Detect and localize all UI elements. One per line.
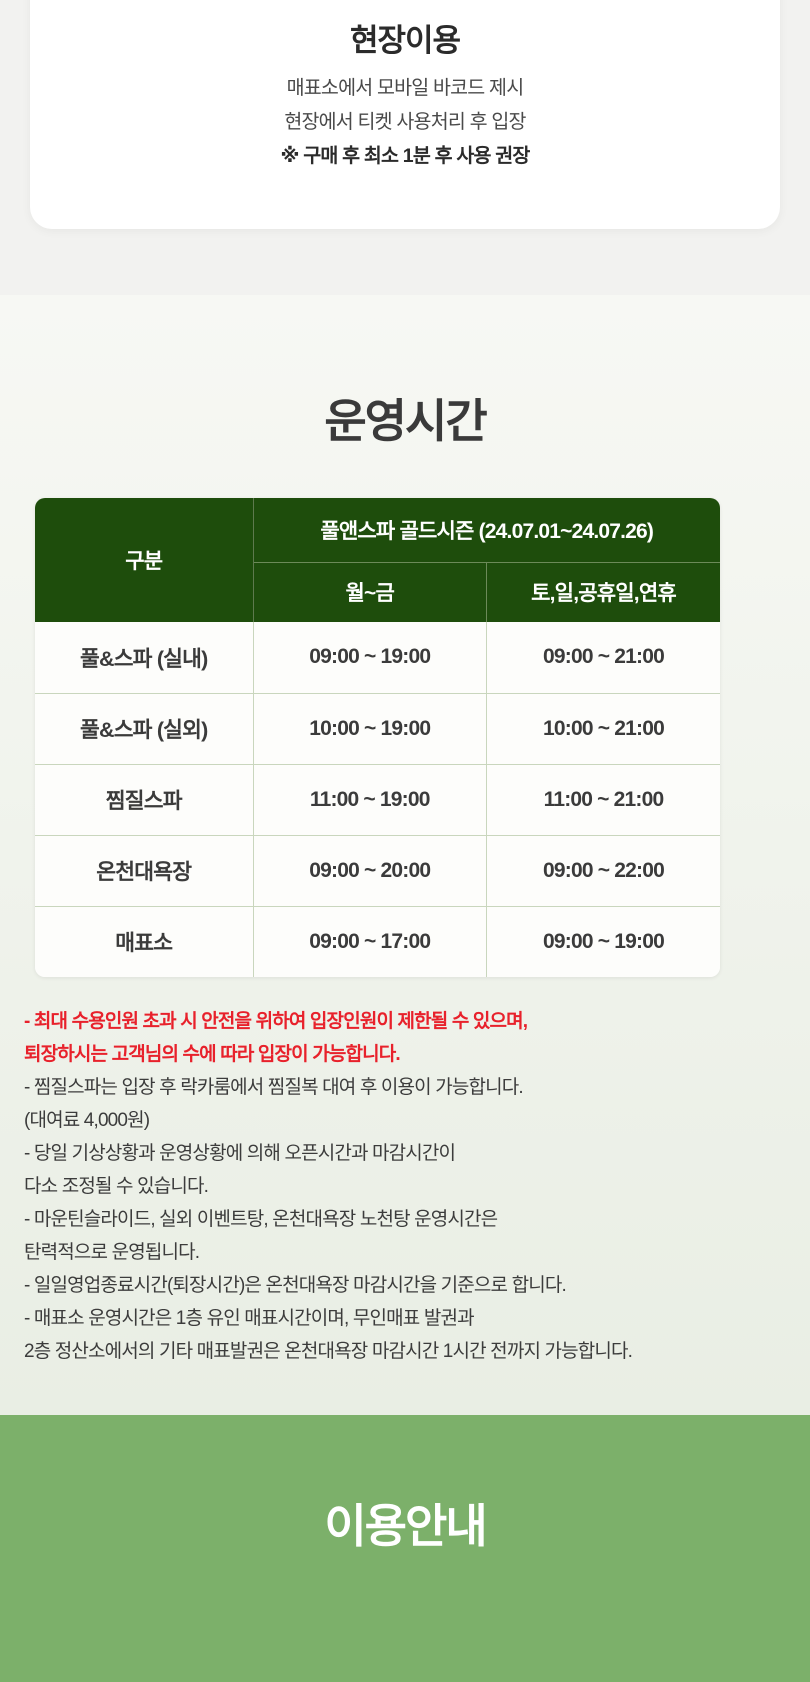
row-weekend-hours: 11:00 ~ 21:00 [487, 764, 721, 835]
table-body: 풀&스파 (실내) 09:00 ~ 19:00 09:00 ~ 21:00 풀&… [35, 622, 720, 977]
row-weekday-hours: 11:00 ~ 19:00 [253, 764, 487, 835]
note-item: - 마운틴슬라이드, 실외 이벤트탕, 온천대욕장 노천탕 운영시간은 탄력적으… [24, 1203, 794, 1269]
row-weekday-hours: 09:00 ~ 19:00 [253, 622, 487, 693]
usage-guide-title: 이용안내 [0, 1490, 810, 1556]
row-weekday-hours: 09:00 ~ 20:00 [253, 835, 487, 906]
note-item: - 최대 수용인원 초과 시 안전을 위하여 입장인원이 제한될 수 있으며, … [24, 1005, 794, 1071]
note-item: - 당일 기상상황과 운영상황에 의해 오픈시간과 마감시간이 다소 조정될 수… [24, 1137, 794, 1203]
row-label: 매표소 [35, 906, 253, 977]
card-title: 현장이용 [30, 15, 780, 60]
table-row: 온천대욕장 09:00 ~ 20:00 09:00 ~ 22:00 [35, 835, 720, 906]
row-label: 찜질스파 [35, 764, 253, 835]
note-item: - 찜질스파는 입장 후 락카룸에서 찜질복 대여 후 이용이 가능합니다. (… [24, 1071, 794, 1137]
usage-guide-section: 이용안내 [0, 1415, 810, 1682]
row-weekend-hours: 10:00 ~ 21:00 [487, 693, 721, 764]
card-line: 현장에서 티켓 사용처리 후 입장 [30, 105, 780, 139]
row-weekend-hours: 09:00 ~ 21:00 [487, 622, 721, 693]
table-row: 풀&스파 (실외) 10:00 ~ 19:00 10:00 ~ 21:00 [35, 693, 720, 764]
card-line-note: ※ 구매 후 최소 1분 후 사용 권장 [30, 139, 780, 173]
row-weekend-hours: 09:00 ~ 19:00 [487, 906, 721, 977]
row-weekday-hours: 09:00 ~ 17:00 [253, 906, 487, 977]
table-row: 매표소 09:00 ~ 17:00 09:00 ~ 19:00 [35, 906, 720, 977]
header-gubun: 구분 [35, 498, 253, 622]
table-head: 구분 풀앤스파 골드시즌 (24.07.01~24.07.26) 월~금 토,일… [35, 498, 720, 622]
note-item: - 일일영업종료시간(퇴장시간)은 온천대욕장 마감시간을 기준으로 합니다. [24, 1269, 794, 1302]
table-row: 찜질스파 11:00 ~ 19:00 11:00 ~ 21:00 [35, 764, 720, 835]
usage-method-card: 이용방법 현장이용 매표소에서 모바일 바코드 제시 현장에서 티켓 사용처리 … [30, 0, 780, 229]
header-season: 풀앤스파 골드시즌 (24.07.01~24.07.26) [253, 498, 720, 562]
operating-hours-table-wrapper: 구분 풀앤스파 골드시즌 (24.07.01~24.07.26) 월~금 토,일… [35, 498, 720, 977]
notes-list: - 최대 수용인원 초과 시 안전을 위하여 입장인원이 제한될 수 있으며, … [24, 1005, 794, 1368]
card-line: 매표소에서 모바일 바코드 제시 [30, 71, 780, 105]
operating-hours-table: 구분 풀앤스파 골드시즌 (24.07.01~24.07.26) 월~금 토,일… [35, 498, 720, 977]
row-weekday-hours: 10:00 ~ 19:00 [253, 693, 487, 764]
row-label: 온천대욕장 [35, 835, 253, 906]
header-weekday: 월~금 [253, 562, 487, 622]
card-description: 매표소에서 모바일 바코드 제시 현장에서 티켓 사용처리 후 입장 ※ 구매 … [30, 71, 780, 173]
section-heading: 운영시간 [0, 295, 810, 451]
operating-hours-section: 운영시간 구분 풀앤스파 골드시즌 (24.07.01~24.07.26) 월~… [0, 295, 810, 1415]
row-label: 풀&스파 (실외) [35, 693, 253, 764]
row-weekend-hours: 09:00 ~ 22:00 [487, 835, 721, 906]
table-row: 풀&스파 (실내) 09:00 ~ 19:00 09:00 ~ 21:00 [35, 622, 720, 693]
table-header-row-1: 구분 풀앤스파 골드시즌 (24.07.01~24.07.26) [35, 498, 720, 562]
header-weekend: 토,일,공휴일,연휴 [487, 562, 721, 622]
note-item: - 매표소 운영시간은 1층 유인 매표시간이며, 무인매표 발권과 2층 정산… [24, 1302, 794, 1368]
row-label: 풀&스파 (실내) [35, 622, 253, 693]
usage-method-section: 이용방법 현장이용 매표소에서 모바일 바코드 제시 현장에서 티켓 사용처리 … [0, 0, 810, 295]
